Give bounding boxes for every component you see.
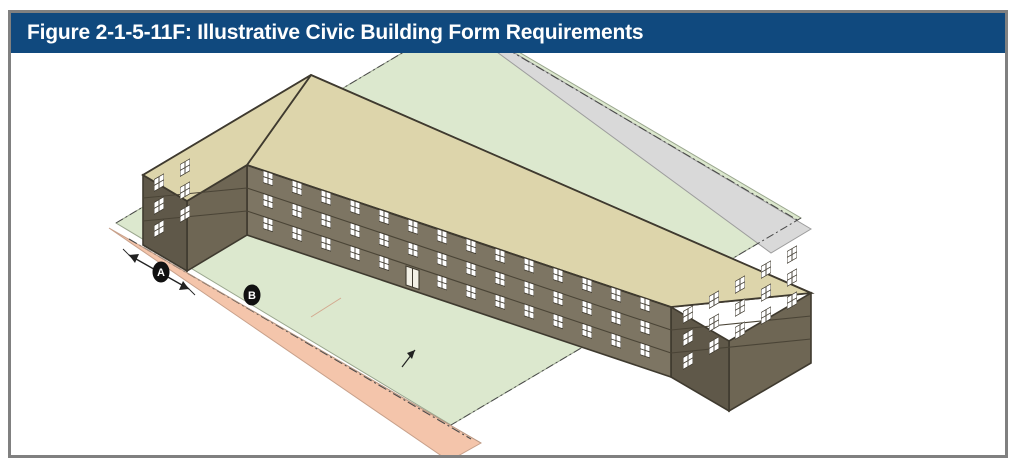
dimension-arrow-a-start	[129, 254, 139, 263]
figure-title-bar: Figure 2-1-5-11F: Illustrative Civic Bui…	[11, 13, 1005, 53]
figure-illustration-canvas: A B	[11, 53, 1005, 455]
building-entrance	[406, 266, 419, 289]
figure-title: Figure 2-1-5-11F: Illustrative Civic Bui…	[11, 21, 643, 45]
dimension-marker-b-label: B	[248, 290, 256, 302]
dimension-marker-b: B	[244, 285, 260, 305]
dimension-marker-a-label: A	[157, 267, 165, 279]
figure-frame: Figure 2-1-5-11F: Illustrative Civic Bui…	[8, 10, 1008, 458]
building-side-wall-right-step	[671, 307, 729, 411]
dimension-marker-a: A	[153, 262, 169, 282]
isometric-building-illustration: A B	[11, 53, 1005, 455]
